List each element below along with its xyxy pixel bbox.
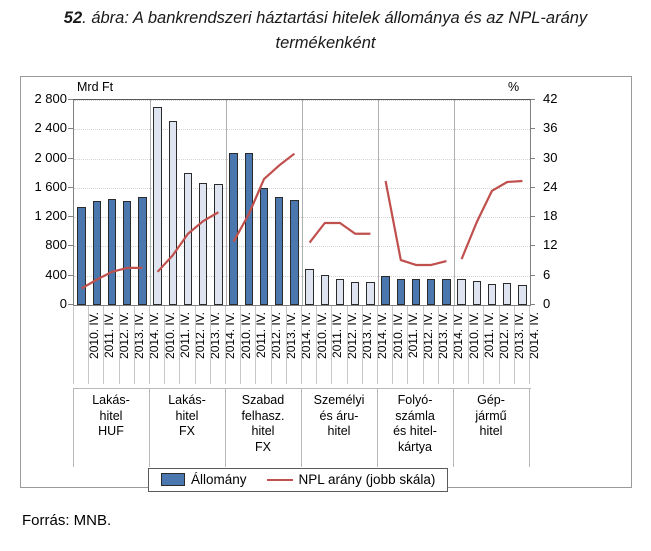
right-axis-tick-label: 42 [543, 91, 583, 106]
group-label: Szabadfelhasz.hitelFX [225, 389, 301, 467]
category-separator [392, 306, 393, 384]
legend-item-bars: Állomány [161, 472, 247, 487]
category-separator [407, 306, 408, 384]
npl-line-segment [82, 268, 143, 289]
npl-line-segment [234, 154, 295, 242]
group-label-line: Folyó- [377, 393, 453, 409]
right-axis-tick-label: 36 [543, 120, 583, 135]
source-note: Forrás: MNB. [22, 512, 111, 529]
category-separator [119, 306, 120, 384]
figure-page: 52. ábra: A bankrendszeri háztartási hit… [0, 0, 651, 551]
left-axis-tick-label: 1 200 [21, 208, 67, 223]
category-separator [225, 306, 226, 384]
category-separator [103, 306, 104, 384]
group-label-line: hitel [225, 424, 301, 440]
legend-label-bars: Állomány [191, 472, 247, 487]
right-axis-tick-label: 0 [543, 296, 583, 311]
group-label-line: hitel [149, 409, 225, 425]
group-label-line: és áru- [301, 409, 377, 425]
npl-line-segment [386, 181, 447, 265]
category-separator [73, 306, 74, 384]
group-label-line: FX [225, 440, 301, 456]
category-separator [286, 306, 287, 384]
category-separator [210, 306, 211, 384]
category-separator [271, 306, 272, 384]
right-axis-unit: % [508, 80, 519, 94]
group-label: Lakás-hitelFX [149, 389, 225, 467]
category-separator [316, 306, 317, 384]
category-separator [483, 306, 484, 384]
category-separator [438, 306, 439, 384]
left-axis-tick-label: 800 [21, 237, 67, 252]
category-separator [255, 306, 256, 384]
npl-line-segment [310, 223, 371, 243]
group-label-line: HUF [73, 424, 149, 440]
group-label: Lakás-hitelHUF [73, 389, 149, 467]
right-axis-tick-label: 18 [543, 208, 583, 223]
left-axis-tick-label: 2 800 [21, 91, 67, 106]
group-label-line: FX [149, 424, 225, 440]
right-axis-tick-label: 24 [543, 179, 583, 194]
category-separator [362, 306, 363, 384]
legend-label-line: NPL arány (jobb skála) [299, 472, 436, 487]
category-separator [195, 306, 196, 384]
category-separator [149, 306, 150, 384]
left-axis-tick-label: 1 600 [21, 179, 67, 194]
category-separator [347, 306, 348, 384]
group-label-divider [149, 389, 150, 467]
category-separator [423, 306, 424, 384]
group-label-line: és hitel- [377, 424, 453, 440]
category-separator [499, 306, 500, 384]
right-axis-tick-label: 30 [543, 150, 583, 165]
category-separator [134, 306, 135, 384]
group-label: Személyiés áru-hitel [301, 389, 377, 467]
plot-inner [74, 100, 530, 305]
category-separator [514, 306, 515, 384]
legend-item-line: NPL arány (jobb skála) [267, 472, 436, 487]
left-axis-tick-label: 2 400 [21, 120, 67, 135]
category-separator [164, 306, 165, 384]
group-label-divider [453, 389, 454, 467]
group-label-line: hitel [453, 424, 529, 440]
group-label-line: jármű [453, 409, 529, 425]
line-swatch-icon [267, 479, 293, 481]
npl-line-segment [158, 212, 219, 272]
group-label-divider [377, 389, 378, 467]
group-label-divider [225, 389, 226, 467]
right-axis-tick-label: 12 [543, 237, 583, 252]
group-label-line: Szabad [225, 393, 301, 409]
figure-number: 52 [64, 9, 82, 27]
chart-legend: Állomány NPL arány (jobb skála) [148, 468, 448, 492]
left-axis-tick-label: 400 [21, 267, 67, 282]
category-separator [529, 306, 530, 384]
chart-container: Mrd Ft % 04008001 2001 6002 0002 4002 80… [20, 76, 632, 488]
group-labels-row: Lakás-hitelHUFLakás-hitelFXSzabadfelhasz… [73, 388, 531, 467]
category-separator [301, 306, 302, 384]
group-label: Folyó-számlaés hitel-kártya [377, 389, 453, 467]
group-label: Gép-járműhitel [453, 389, 529, 467]
group-label-line: számla [377, 409, 453, 425]
group-label-line: felhasz. [225, 409, 301, 425]
group-label-divider [301, 389, 302, 467]
category-separator [377, 306, 378, 384]
group-label-line: kártya [377, 440, 453, 456]
group-label-line: hitel [73, 409, 149, 425]
left-axis-unit: Mrd Ft [77, 80, 113, 94]
npl-line-segment [462, 181, 523, 259]
category-separator [240, 306, 241, 384]
group-label-divider [73, 389, 74, 467]
group-label-line: Lakás- [149, 393, 225, 409]
group-label-line: Személyi [301, 393, 377, 409]
category-separator [453, 306, 454, 384]
group-label-divider [529, 389, 530, 467]
group-label-line: Lakás- [73, 393, 149, 409]
category-separator [179, 306, 180, 384]
category-separator [331, 306, 332, 384]
right-axis-tick-label: 6 [543, 267, 583, 282]
left-axis-tick-label: 2 000 [21, 150, 67, 165]
left-axis-tick-label: 0 [21, 296, 67, 311]
category-axis-labels: 2010. IV.2011. IV.2012. IV.2013. IV.2014… [73, 306, 531, 386]
group-label-line: Gép- [453, 393, 529, 409]
group-label-line: hitel [301, 424, 377, 440]
npl-line-series [74, 100, 530, 305]
plot-area [73, 99, 531, 305]
category-separator [88, 306, 89, 384]
category-separator [468, 306, 469, 384]
bar-swatch-icon [161, 473, 185, 486]
figure-title-text: . ábra: A bankrendszeri háztartási hitel… [82, 9, 587, 52]
figure-title: 52. ábra: A bankrendszeri háztartási hit… [18, 6, 633, 56]
